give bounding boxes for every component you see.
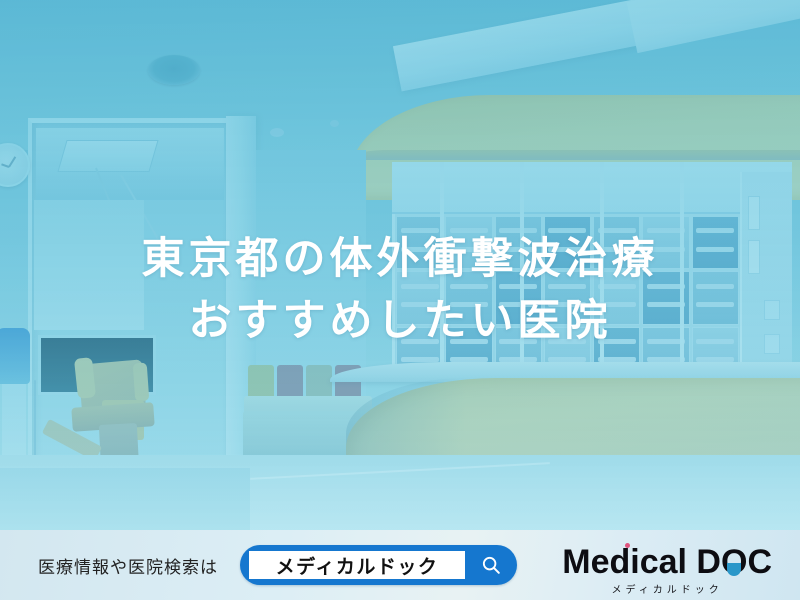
search-input[interactable]: メディカルドック [249, 551, 465, 579]
search-lead-text: 医療情報や医院検索は [38, 553, 218, 578]
logo-wordmark: Medical DOC [562, 544, 772, 580]
hero-title-line-1: 東京都の体外衝撃波治療 [0, 228, 800, 290]
clinic-hero-banner: 東京都の体外衝撃波治療 おすすめしたい医院 医療情報や医院検索は メディカルドッ… [0, 0, 800, 600]
logo-subtitle: メディカルドック [562, 581, 772, 596]
search-icon [480, 554, 502, 576]
bottom-brand-bar: 医療情報や医院検索は メディカルドック Medical DOC メディカルドック [0, 530, 800, 600]
hero-title-line-2: おすすめしたい医院 [0, 290, 800, 352]
medical-doc-logo[interactable]: Medical DOC メディカルドック [562, 544, 772, 596]
hero-title: 東京都の体外衝撃波治療 おすすめしたい医院 [0, 228, 800, 352]
search-pill[interactable]: メディカルドック [240, 545, 517, 585]
logo-letter-o: O [721, 544, 747, 580]
logo-word-medical-d: Medical D [562, 543, 721, 581]
hero-photo: 東京都の体外衝撃波治療 おすすめしたい医院 [0, 0, 800, 530]
search-button[interactable] [465, 554, 517, 576]
logo-word-c: C [747, 543, 772, 581]
